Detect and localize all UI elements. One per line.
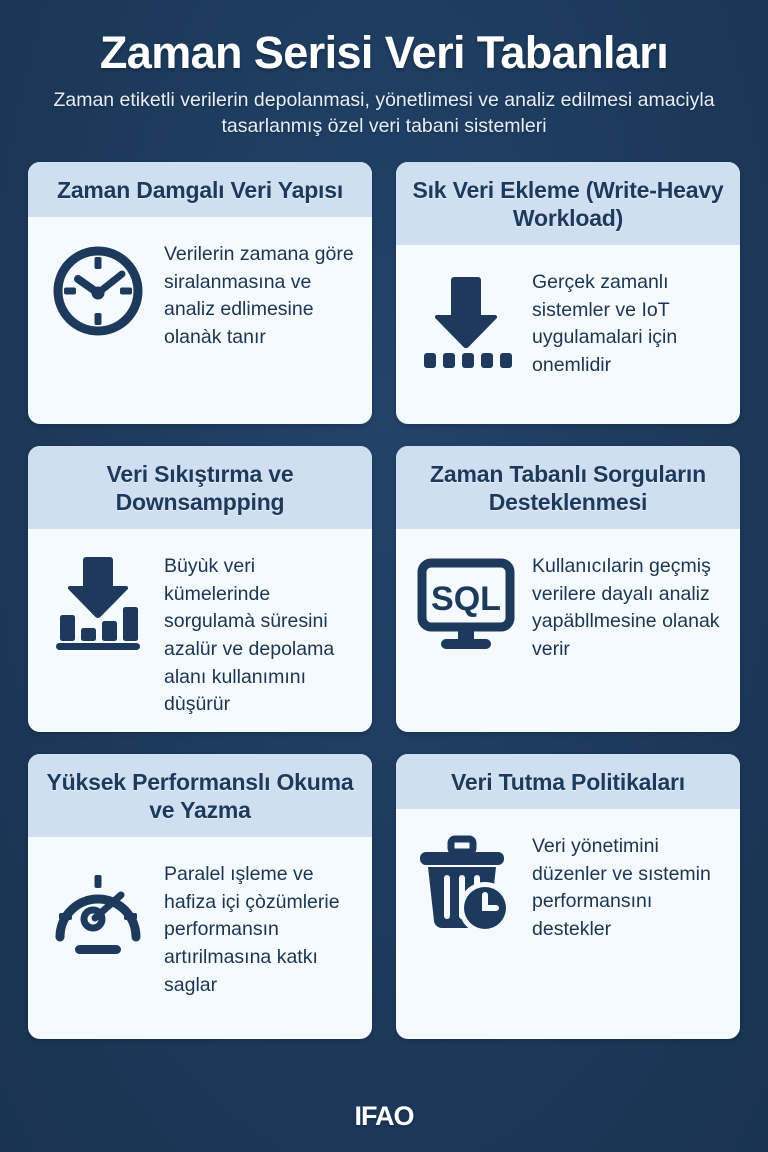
infographic-poster: Zaman Serisi Veri Tabanları Zaman etiket… <box>0 0 768 1152</box>
clock-icon <box>46 239 150 343</box>
feature-card-grid: Zaman Damgalı Veri Yapısı Verileri <box>28 162 740 1039</box>
poster-footer: IFAO <box>0 1101 768 1132</box>
down-arrow-blocks-icon <box>414 267 518 371</box>
card-header: Veri Sıkıştırma ve Downsampping <box>28 446 372 529</box>
card-body: Gerçek zamanlı sistemler ve IoT uygulama… <box>396 245 740 424</box>
feature-card-yuksek-performans: Yüksek Performanslı Okuma ve Yazma Paral… <box>28 754 372 1039</box>
card-title: Zaman Tabanlı Sorguların Desteklenmesi <box>412 460 724 516</box>
card-body: Verilerin zamana göre siralanmasına ve a… <box>28 217 372 424</box>
card-title: Yüksek Performanslı Okuma ve Yazma <box>44 768 356 824</box>
card-description: Kullanıcılarin geçmiş verilere dayalı an… <box>532 551 724 664</box>
feature-card-zaman-tabanli-sorgular: Zaman Tabanlı Sorguların Desteklenmesi S… <box>396 446 740 732</box>
card-description: Gerçek zamanlı sistemler ve IoT uygulama… <box>532 267 724 380</box>
page-subtitle: Zaman etiketli verilerin depolanmasi, yö… <box>39 88 729 139</box>
card-header: Zaman Damgalı Veri Yapısı <box>28 162 372 217</box>
feature-card-zaman-damgali: Zaman Damgalı Veri Yapısı Verileri <box>28 162 372 424</box>
card-title: Veri Sıkıştırma ve Downsampping <box>44 460 356 516</box>
card-description: Verilerin zamana göre siralanmasına ve a… <box>164 239 356 352</box>
card-description: Büyùk veri kümelerinde sorgulamà süresin… <box>164 551 356 719</box>
page-title: Zaman Serisi Veri Tabanları <box>28 28 740 78</box>
card-body: SQL Kullanıcılarin geçmiş verilere dayal… <box>396 529 740 732</box>
brand-logo: IFAO <box>354 1101 413 1131</box>
gauge-icon <box>46 859 150 963</box>
poster-header: Zaman Serisi Veri Tabanları Zaman etiket… <box>28 0 740 140</box>
sql-icon-label: SQL <box>431 580 501 618</box>
card-title: Sık Veri Ekleme (Write-Heavy Workload) <box>412 176 724 232</box>
card-header: Zaman Tabanlı Sorguların Desteklenmesi <box>396 446 740 529</box>
downsample-bars-icon <box>46 551 150 655</box>
card-description: Veri yönetimini düzenler ve sıstemin per… <box>532 831 724 944</box>
card-body: Paralel ışleme ve hafiza içi çòzümlerie … <box>28 837 372 1039</box>
card-title: Veri Tutma Politikaları <box>412 768 724 796</box>
feature-card-veri-tutma: Veri Tutma Politikaları <box>396 754 740 1039</box>
card-header: Yüksek Performanslı Okuma ve Yazma <box>28 754 372 837</box>
card-body: Veri yönetimini düzenler ve sıstemin per… <box>396 809 740 1039</box>
trash-clock-icon <box>414 831 518 935</box>
sql-monitor-icon: SQL <box>414 551 518 655</box>
feature-card-sik-veri-ekleme: Sık Veri Ekleme (Write-Heavy Workload) <box>396 162 740 424</box>
card-body: Büyùk veri kümelerinde sorgulamà süresin… <box>28 529 372 732</box>
card-header: Veri Tutma Politikaları <box>396 754 740 809</box>
card-description: Paralel ışleme ve hafiza içi çòzümlerie … <box>164 859 356 999</box>
feature-card-veri-sikistirma: Veri Sıkıştırma ve Downsampping <box>28 446 372 732</box>
card-title: Zaman Damgalı Veri Yapısı <box>44 176 356 204</box>
card-header: Sık Veri Ekleme (Write-Heavy Workload) <box>396 162 740 245</box>
